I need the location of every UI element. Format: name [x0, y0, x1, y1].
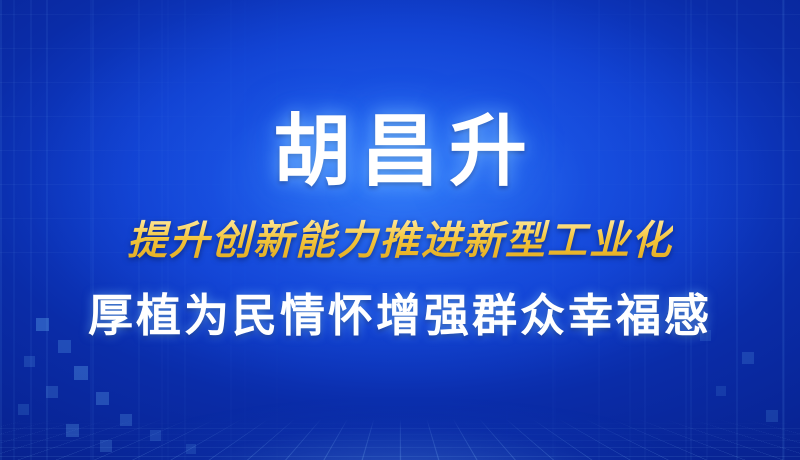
banner-subtitle: 提升创新能力推进新型工业化	[127, 218, 673, 264]
banner-tagline: 厚植为民情怀增强群众幸福感	[88, 290, 712, 342]
news-banner-image: 胡昌升 提升创新能力推进新型工业化 厚植为民情怀增强群众幸福感	[0, 0, 800, 460]
person-name: 胡昌升	[263, 112, 537, 194]
banner-text-block: 胡昌升 提升创新能力推进新型工业化 厚植为民情怀增强群众幸福感	[0, 0, 800, 460]
